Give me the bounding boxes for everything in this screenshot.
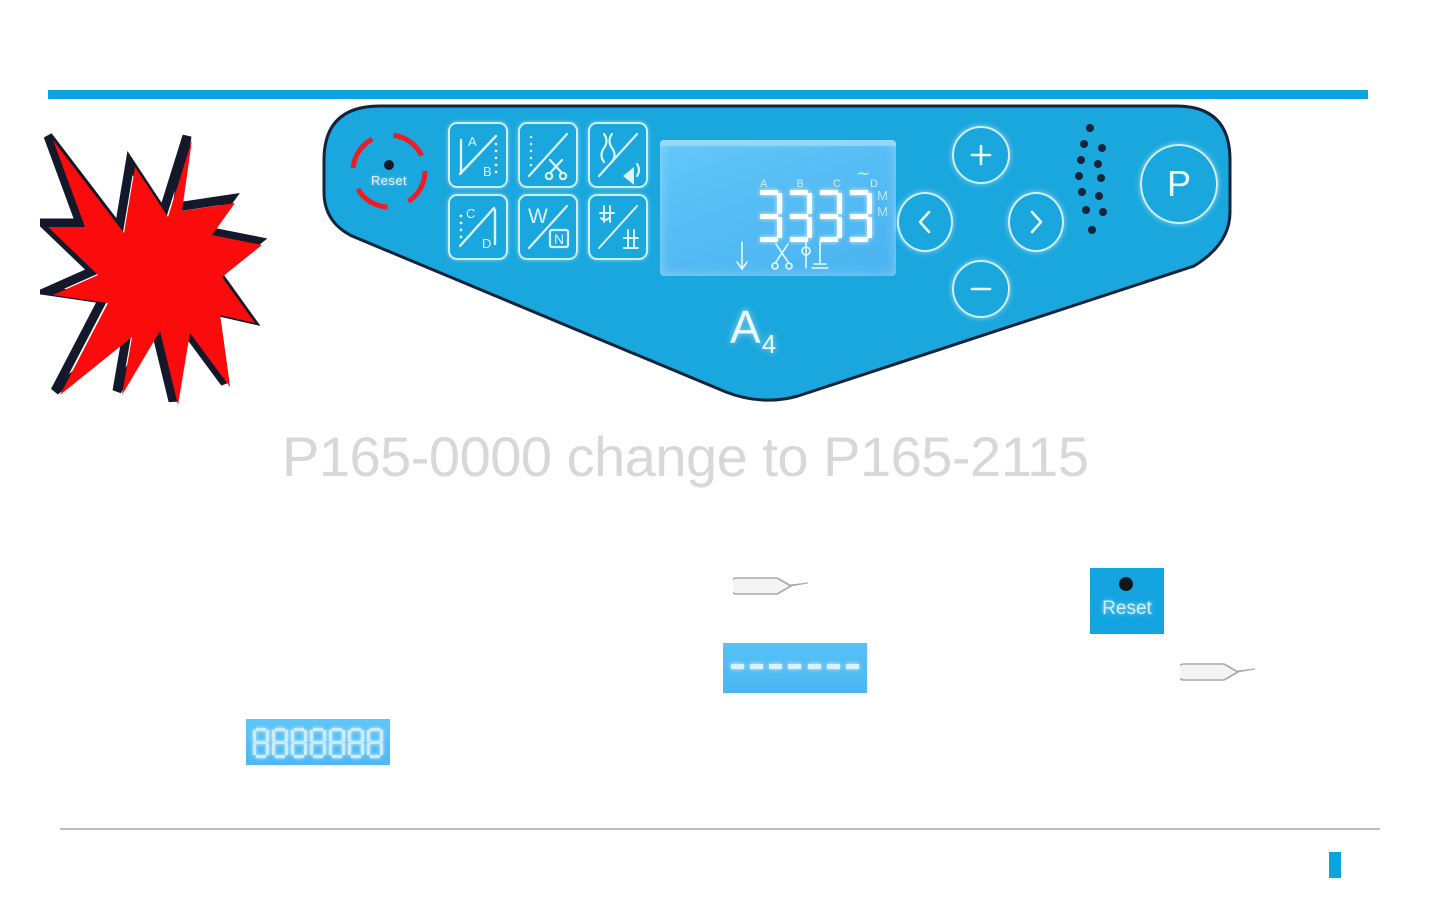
footer-accent-mark	[1329, 852, 1341, 878]
lcd-digit	[846, 190, 872, 242]
lcd-side-code: M M	[877, 188, 888, 221]
reset-pinhole-area[interactable]: Reset	[346, 128, 432, 214]
page-title: P165-0000 change to P165-2115	[282, 424, 1242, 489]
starburst-callout	[40, 105, 280, 455]
reset-button-closeup[interactable]: Reset	[1090, 568, 1164, 634]
lcd-digit	[253, 728, 269, 758]
lcd-digit-row	[756, 190, 872, 242]
decrease-button[interactable]	[952, 260, 1010, 318]
svg-text:D: D	[482, 236, 491, 251]
needle-speed-icon[interactable]	[588, 122, 648, 188]
eject-pin-tool	[1180, 658, 1258, 686]
footer-divider	[60, 828, 1380, 830]
lcd-column-labels: A B C D	[760, 178, 878, 190]
reset-highlight-ring	[346, 128, 432, 214]
model-label: A4	[730, 300, 777, 360]
lcd-dash	[788, 664, 801, 669]
increase-button[interactable]	[952, 126, 1010, 184]
next-button[interactable]	[1008, 192, 1064, 252]
lcd-dash	[769, 664, 782, 669]
svg-text:C: C	[466, 206, 475, 221]
lcd-digit	[348, 728, 364, 758]
lcd-digit	[756, 190, 782, 242]
thread-trim-icon[interactable]	[518, 122, 578, 188]
lcd-digit	[272, 728, 288, 758]
lcd-display: · · · · ∼ A B C D M M	[660, 140, 896, 276]
lcd-status-icons	[728, 238, 866, 272]
lcd-sheen	[660, 140, 896, 146]
stitch-settings-icon[interactable]	[588, 194, 648, 260]
lcd-label-c: C	[833, 178, 841, 190]
lcd-digit	[310, 728, 326, 758]
function-button-grid: A B	[448, 122, 656, 262]
svg-text:A: A	[468, 134, 477, 149]
lcd-label-b: B	[796, 178, 803, 190]
lcd-dash	[827, 664, 840, 669]
reset-chip-label: Reset	[1090, 598, 1164, 620]
lcd-digit	[367, 728, 383, 758]
svg-text:W: W	[528, 205, 548, 228]
lcd-dash-strip	[723, 643, 867, 693]
svg-text:B: B	[483, 164, 492, 179]
lcd-digit	[291, 728, 307, 758]
lcd-dash-row	[731, 664, 859, 669]
lcd-digit	[786, 190, 812, 242]
reset-hole-icon[interactable]	[384, 160, 394, 170]
lcd-seven-digit-display	[246, 719, 390, 765]
cd-switch-icon[interactable]: C D	[448, 194, 508, 260]
svg-text:P: P	[1167, 163, 1191, 204]
eject-pin-tool	[733, 572, 811, 600]
lcd-dash	[808, 664, 821, 669]
lcd-fineprint: · · · ·	[668, 232, 674, 252]
previous-button[interactable]	[897, 192, 953, 252]
dot-pattern-decoration	[1074, 122, 1122, 244]
lcd-dash	[750, 664, 763, 669]
lcd-dash	[846, 664, 859, 669]
lcd-digit	[816, 190, 842, 242]
lcd-dash	[731, 664, 744, 669]
wn-mode-icon[interactable]: W N	[518, 194, 578, 260]
svg-text:N: N	[554, 231, 564, 247]
lcd-label-a: A	[760, 178, 767, 190]
reset-label: Reset	[346, 173, 432, 188]
control-panel: Reset A B	[322, 104, 1234, 404]
ab-switch-icon[interactable]: A B	[448, 122, 508, 188]
top-accent-bar	[48, 90, 1368, 99]
slide-canvas: Reset A B	[0, 0, 1440, 900]
lcd-digit	[329, 728, 345, 758]
reset-hole-icon[interactable]	[1119, 577, 1133, 591]
program-button[interactable]: P	[1140, 144, 1218, 224]
